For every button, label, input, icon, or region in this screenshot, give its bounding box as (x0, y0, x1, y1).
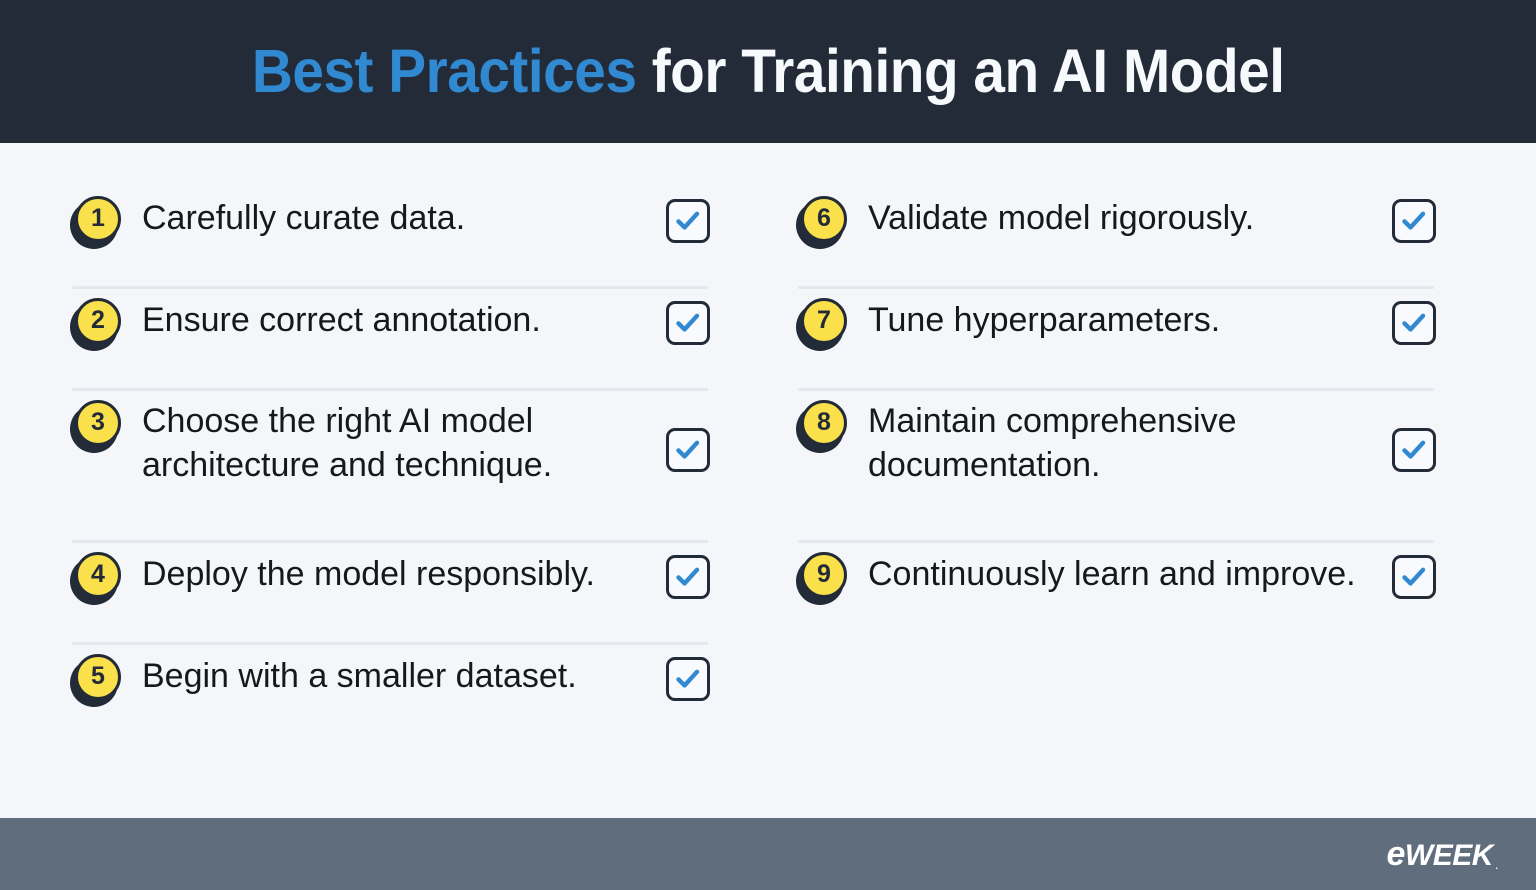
number-badge-label: 5 (91, 664, 105, 689)
number-badge-label: 6 (817, 206, 831, 231)
checklist-item-8[interactable]: 8Maintain comprehensive documentation. (796, 391, 1436, 543)
number-badge: 2 (70, 298, 124, 350)
eweek-logo-trademark: . (1495, 857, 1498, 874)
checklist-item-label: Choose the right AI model architecture a… (124, 391, 666, 487)
number-badge: 6 (796, 196, 850, 248)
page-title-rest: for Training an AI Model (636, 37, 1284, 105)
footer-bar: eWEEK. (0, 818, 1536, 890)
number-badge: 3 (70, 400, 124, 452)
checklist-item-label: Maintain comprehensive documentation. (850, 391, 1392, 487)
number-badge: 1 (70, 196, 124, 248)
checkbox-checked-icon[interactable] (1392, 428, 1436, 472)
header-banner: Best Practices for Training an AI Model (0, 0, 1536, 143)
checklist-item-label: Deploy the model responsibly. (124, 543, 666, 597)
eweek-logo-e: e (1386, 835, 1404, 874)
page-title-accent: Best Practices (252, 37, 637, 105)
checklist-column-right: 6Validate model rigorously.7Tune hyperpa… (796, 187, 1436, 818)
checklist-item-4[interactable]: 4Deploy the model responsibly. (70, 543, 710, 645)
checklist-content: 1Carefully curate data.2Ensure correct a… (0, 143, 1536, 818)
number-badge-disc: 4 (75, 552, 121, 598)
number-badge: 4 (70, 552, 124, 604)
checkbox-checked-icon[interactable] (1392, 199, 1436, 243)
checkbox-checked-icon[interactable] (1392, 301, 1436, 345)
checklist-item-label: Begin with a smaller dataset. (124, 645, 666, 699)
checklist-item-6[interactable]: 6Validate model rigorously. (796, 187, 1436, 289)
checklist-item-3[interactable]: 3Choose the right AI model architecture … (70, 391, 710, 543)
checklist-item-7[interactable]: 7Tune hyperparameters. (796, 289, 1436, 391)
infographic-root: Best Practices for Training an AI Model … (0, 0, 1536, 890)
number-badge-disc: 1 (75, 196, 121, 242)
number-badge-label: 7 (817, 308, 831, 333)
checklist-item-label: Validate model rigorously. (850, 187, 1392, 241)
number-badge-disc: 6 (801, 196, 847, 242)
number-badge-disc: 7 (801, 298, 847, 344)
checkbox-checked-icon[interactable] (666, 199, 710, 243)
number-badge-disc: 9 (801, 552, 847, 598)
checklist-item-label: Carefully curate data. (124, 187, 666, 241)
number-badge-label: 1 (91, 206, 105, 231)
number-badge-disc: 2 (75, 298, 121, 344)
number-badge-label: 3 (91, 410, 105, 435)
page-title: Best Practices for Training an AI Model (252, 41, 1285, 102)
checklist-item-5[interactable]: 5Begin with a smaller dataset. (70, 645, 710, 747)
checklist-column-left: 1Carefully curate data.2Ensure correct a… (70, 187, 710, 818)
number-badge-label: 8 (817, 410, 831, 435)
number-badge: 8 (796, 400, 850, 452)
checkbox-checked-icon[interactable] (1392, 555, 1436, 599)
number-badge-disc: 8 (801, 400, 847, 446)
number-badge-label: 4 (91, 562, 105, 587)
checklist-item-2[interactable]: 2Ensure correct annotation. (70, 289, 710, 391)
checklist-item-9[interactable]: 9Continuously learn and improve. (796, 543, 1436, 645)
eweek-logo: eWEEK. (1386, 835, 1498, 874)
number-badge: 7 (796, 298, 850, 350)
checkbox-checked-icon[interactable] (666, 428, 710, 472)
checklist-item-label: Ensure correct annotation. (124, 289, 666, 343)
eweek-logo-week: WEEK (1405, 839, 1493, 873)
checklist-item-label: Continuously learn and improve. (850, 543, 1392, 597)
number-badge-label: 9 (817, 562, 831, 587)
number-badge-disc: 3 (75, 400, 121, 446)
number-badge: 9 (796, 552, 850, 604)
checkbox-checked-icon[interactable] (666, 657, 710, 701)
checkbox-checked-icon[interactable] (666, 555, 710, 599)
number-badge-label: 2 (91, 308, 105, 333)
number-badge: 5 (70, 654, 124, 706)
number-badge-disc: 5 (75, 654, 121, 700)
checklist-item-1[interactable]: 1Carefully curate data. (70, 187, 710, 289)
checkbox-checked-icon[interactable] (666, 301, 710, 345)
checklist-item-label: Tune hyperparameters. (850, 289, 1392, 343)
